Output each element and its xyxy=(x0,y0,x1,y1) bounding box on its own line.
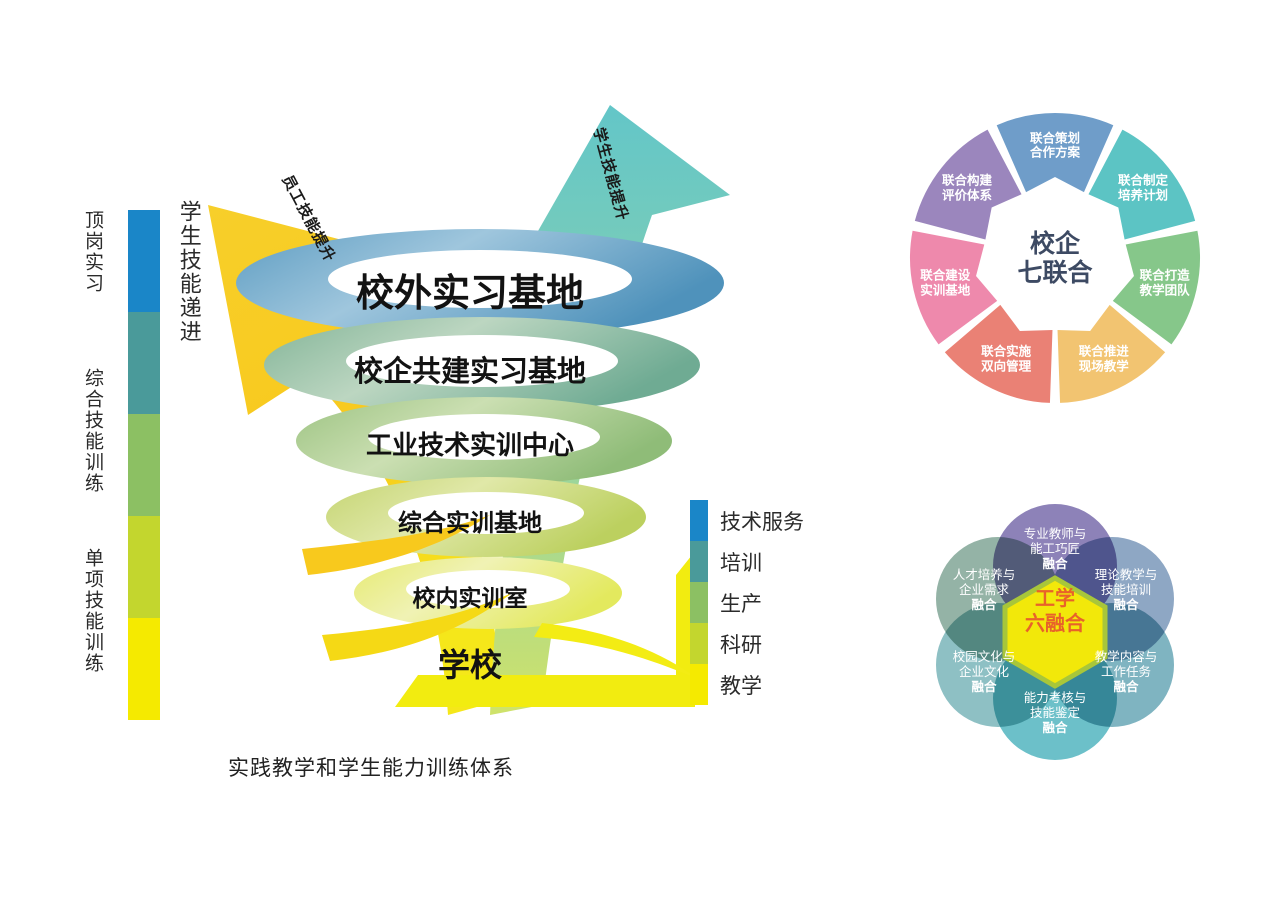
service-legend-row: 技术服务 xyxy=(690,500,840,541)
flower-petal-label-1: 专业教师与能工巧匠融合 xyxy=(993,526,1117,571)
donut-segment-label-6: 联合建设实训基地 xyxy=(920,268,970,298)
flower-petal-label-6: 人才培养与企业需求融合 xyxy=(922,567,1046,612)
hex-line2: 六融合 xyxy=(993,611,1117,636)
practice-teaching-funnel: 员工技能提升 学生技能提升 校外实习基地 校企共建实习基地 工业技术实训中心 综… xyxy=(190,75,750,735)
service-label: 科研 xyxy=(720,629,762,659)
flower-petal-label-3: 教学内容与工作任务融合 xyxy=(1064,649,1188,694)
skill-stage-labels: 顶岗实习 综合技能训练 单项技能训练 xyxy=(82,200,124,730)
funnel-level-label-1: 校外实习基地 xyxy=(190,262,750,317)
service-label: 生产 xyxy=(720,588,762,618)
service-legend: 技术服务培训生产科研教学 xyxy=(690,500,840,705)
diagram-caption: 实践教学和学生能力训练体系 xyxy=(228,752,514,782)
skill-progression-title: 学生技能递进 xyxy=(176,200,200,344)
diagram-canvas: 员工技能提升 学生技能提升 校外实习基地 校企共建实习基地 工业技术实训中心 综… xyxy=(0,0,1269,897)
donut-center-line2: 七联合 xyxy=(1017,258,1092,288)
funnel-level-label-6: 学校 xyxy=(190,640,750,686)
skill-progression-bar xyxy=(128,210,160,720)
funnel-level-label-4: 综合实训基地 xyxy=(190,503,750,538)
flower-petal-label-5: 校园文化与企业文化融合 xyxy=(922,649,1046,694)
service-label: 培训 xyxy=(720,547,762,577)
donut-segment-label-1: 联合策划合作方案 xyxy=(1030,131,1080,161)
stage-label-1: 顶岗实习 xyxy=(82,210,102,294)
service-label: 教学 xyxy=(720,670,762,700)
six-integrations-flower: 工学 六融合 专业教师与能工巧匠融合理论教学与技能培训融合教学内容与工作任务融合… xyxy=(905,490,1205,780)
stage-label-3: 单项技能训练 xyxy=(82,548,102,674)
donut-center-hub: 校企 七联合 xyxy=(987,190,1123,326)
seven-alliances-donut: 校企 七联合 联合策划合作方案联合制定培养计划联合打造教学团队联合推进现场教学联… xyxy=(905,108,1205,408)
funnel-level-label-5: 校内实训室 xyxy=(190,579,750,613)
donut-center-line1: 校企 xyxy=(1030,229,1080,259)
funnel-level-label-2: 校企共建实习基地 xyxy=(190,348,750,390)
service-swatch-1 xyxy=(690,500,708,541)
donut-segment-label-7: 联合构建评价体系 xyxy=(942,173,992,203)
progression-segment-2 xyxy=(128,312,160,414)
stage-label-2: 综合技能训练 xyxy=(82,368,102,494)
donut-segment-label-3: 联合打造教学团队 xyxy=(1140,268,1190,298)
service-legend-row: 培训 xyxy=(690,541,840,582)
flower-petal-label-4: 能力考核与技能鉴定融合 xyxy=(993,690,1117,735)
donut-segment-label-2: 联合制定培养计划 xyxy=(1118,173,1168,203)
service-legend-row: 教学 xyxy=(690,664,840,705)
service-swatch-2 xyxy=(690,541,708,582)
funnel-svg xyxy=(190,75,750,735)
flower-petal-label-2: 理论教学与技能培训融合 xyxy=(1064,567,1188,612)
service-legend-row: 生产 xyxy=(690,582,840,623)
service-swatch-5 xyxy=(690,664,708,705)
donut-segment-label-4: 联合推进现场教学 xyxy=(1079,345,1129,375)
progression-segment-1 xyxy=(128,210,160,312)
donut-segment-label-5: 联合实施双向管理 xyxy=(981,345,1031,375)
progression-segment-3 xyxy=(128,414,160,516)
progression-segment-5 xyxy=(128,618,160,720)
funnel-level-label-3: 工业技术实训中心 xyxy=(190,425,750,462)
service-label: 技术服务 xyxy=(720,506,804,536)
service-swatch-3 xyxy=(690,582,708,623)
service-swatch-4 xyxy=(690,623,708,664)
service-legend-row: 科研 xyxy=(690,623,840,664)
progression-segment-4 xyxy=(128,516,160,618)
